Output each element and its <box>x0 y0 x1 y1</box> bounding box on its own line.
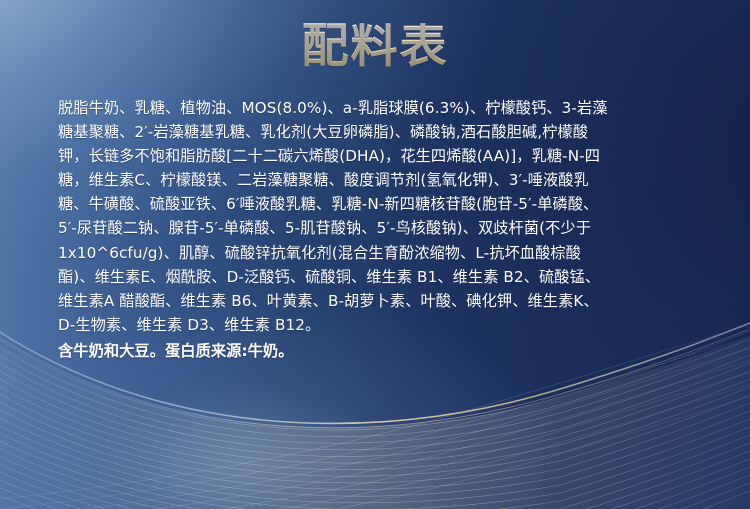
page-title: 配料表 <box>302 23 449 70</box>
ingredient-line: 5′-尿苷酸二钠、腺苷-5′-单磷酸、5-肌苷酸钠、5′-鸟核酸钠)、双歧杆菌(… <box>58 216 694 240</box>
allergen-note: 含牛奶和大豆。蛋白质来源:牛奶。 <box>58 339 694 363</box>
ingredient-line: 糖基聚糖、2′-岩藻糖基乳糖、乳化剂(大豆卵磷脂)、磷酸钠,酒石酸胆碱,柠檬酸 <box>58 120 694 144</box>
ingredient-line: 糖，维生素C、柠檬酸镁、二岩藻糖聚糖、酸度调节剂(氢氧化钾)、3′-唾液酸乳 <box>58 168 694 192</box>
ingredient-line: 脱脂牛奶、乳糖、植物油、MOS(8.0%)、a-乳脂球膜(6.3%)、柠檬酸钙、… <box>58 96 694 120</box>
ingredient-line: D-生物素、维生素 D3、维生素 B12。 <box>58 313 694 337</box>
ingredient-line: 酯)、维生素E、烟酰胺、D-泛酸钙、硫酸铜、维生素 B1、维生素 B2、硫酸锰、 <box>58 265 694 289</box>
title-row: 配料表 <box>0 0 750 92</box>
ingredient-label-panel: 配料表 脱脂牛奶、乳糖、植物油、MOS(8.0%)、a-乳脂球膜(6.3%)、柠… <box>0 0 750 509</box>
ingredient-line: 1x10^6cfu/g)、肌醇、硫酸锌抗氧化剂(混合生育酚浓缩物、L-抗坏血酸棕… <box>58 241 694 265</box>
ingredient-line: 钾，长链多不饱和脂肪酸[二十二碳六烯酸(DHA)，花生四烯酸(AA)]，乳糖-N… <box>58 144 694 168</box>
ingredients-text-block: 脱脂牛奶、乳糖、植物油、MOS(8.0%)、a-乳脂球膜(6.3%)、柠檬酸钙、… <box>58 96 694 363</box>
ingredient-line: 维生素A 醋酸酯、维生素 B6、叶黄素、B-胡萝卜素、叶酸、碘化钾、维生素K、 <box>58 289 694 313</box>
ingredient-line: 糖、牛磺酸、硫酸亚铁、6′唾液酸乳糖、乳糖-N-新四糖核苷酸(胞苷-5′-单磷酸… <box>58 192 694 216</box>
